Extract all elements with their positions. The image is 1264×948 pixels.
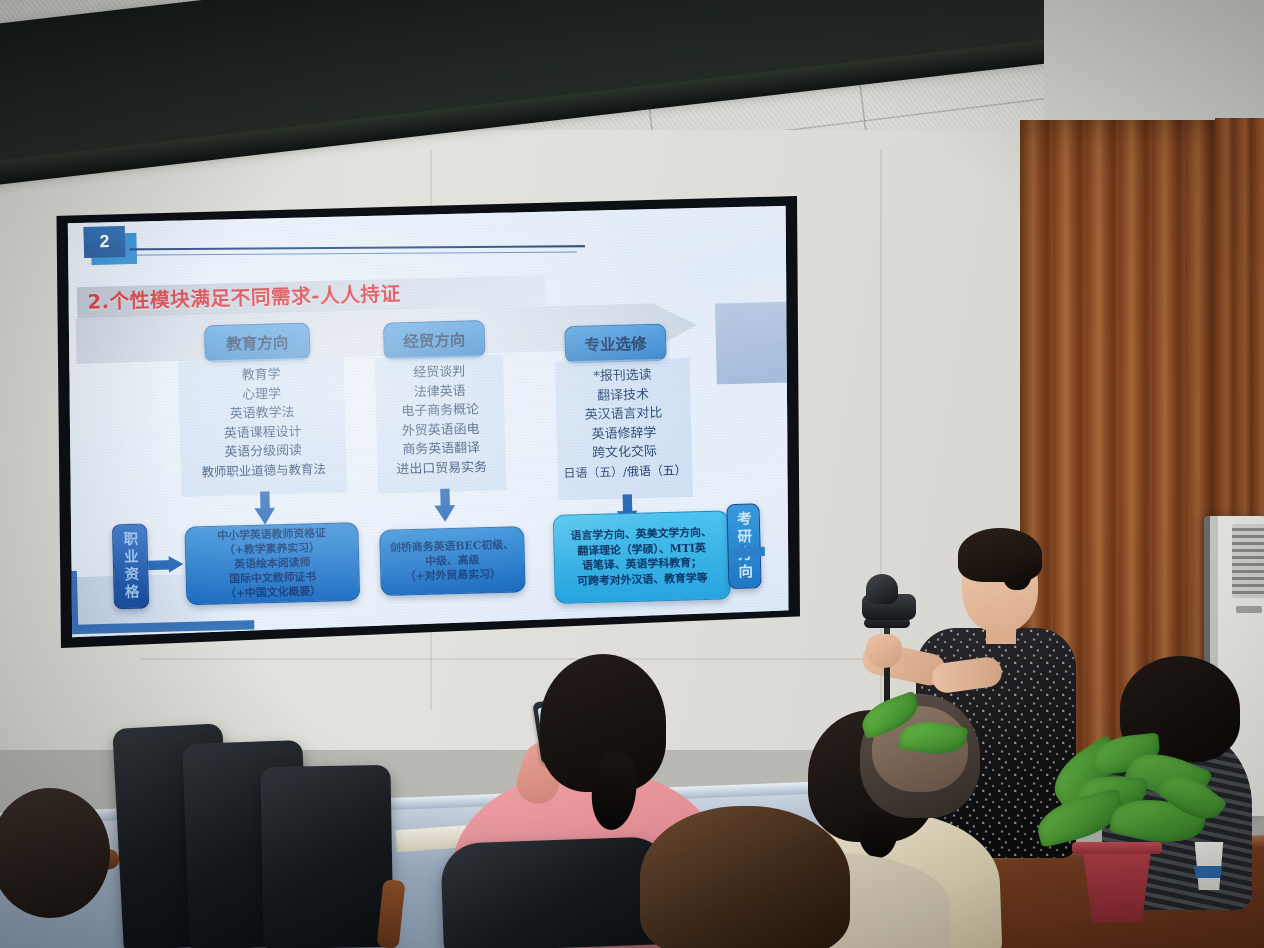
course-item: 教师职业道德与教育法	[181, 459, 347, 482]
slide-page-number: 2	[83, 226, 125, 258]
presentation-slide: 2 2.个性模块满足不同需求-人人持证 教育方向 经贸方向 专业选修 教育学 心…	[62, 205, 790, 639]
column-body-trade: 经贸谈判 法律英语 电子商务概论 外贸英语函电 商务英语翻译 进出口贸易实务	[375, 355, 507, 494]
right-arrow-icon	[148, 556, 184, 573]
presenter-hair-bun	[1002, 548, 1032, 590]
wall-seam	[140, 658, 900, 660]
course-item: 进出口贸易实务	[377, 457, 506, 480]
result-box-education: 中小学英语教师资格证 （+教学素养实习） 英语绘本阅读师 国际中文教师证书 （+…	[184, 522, 360, 605]
paper-cup-band	[1192, 866, 1224, 878]
title-rule	[130, 245, 585, 250]
attendee-front-brown-hair	[640, 806, 850, 948]
column-header-trade: 经贸方向	[383, 320, 485, 360]
left-arrow-icon	[729, 543, 765, 560]
camera-lens-icon	[866, 574, 898, 604]
result-box-elective: 语言学方向、英美文学方向、 翻译理论（学硕）、MTI英 语笔译、英语学科教育； …	[553, 510, 731, 604]
title-rule-secondary	[130, 252, 577, 256]
wood-panel-wall-far	[1215, 118, 1264, 518]
projection-screen: 2 2.个性模块满足不同需求-人人持证 教育方向 经贸方向 专业选修 教育学 心…	[62, 205, 790, 639]
decorative-right-block	[715, 301, 790, 384]
result-box-trade: 剑桥商务英语BEC初级、 中级、高级 （+对外贸易实习）	[379, 526, 526, 596]
course-item: 日语（五）/俄语（五）	[558, 460, 693, 483]
conference-room-scene: 2 2.个性模块满足不同需求-人人持证 教育方向 经贸方向 专业选修 教育学 心…	[0, 0, 1264, 948]
office-chair	[260, 765, 393, 948]
column-body-education: 教育学 心理学 英语教学法 英语课程设计 英语分级阅读 教师职业道德与教育法	[178, 357, 347, 497]
column-header-education: 教育方向	[204, 323, 311, 363]
plant-pot-rim	[1072, 842, 1162, 854]
air-conditioner-vent-icon	[1232, 524, 1264, 598]
column-header-elective: 专业选修	[564, 324, 666, 364]
air-conditioner-logo	[1236, 606, 1262, 613]
down-arrow-icon	[434, 489, 456, 523]
side-label-vocational-qualification: 职业资格	[112, 524, 149, 610]
down-arrow-icon	[254, 491, 276, 525]
presenter-hand-on-camera	[866, 634, 902, 668]
column-body-elective: *报刊选读 翻译技术 英汉语言对比 英语修辞学 跨文化交际 日语（五）/俄语（五…	[555, 358, 693, 500]
office-chair-front	[440, 836, 674, 948]
